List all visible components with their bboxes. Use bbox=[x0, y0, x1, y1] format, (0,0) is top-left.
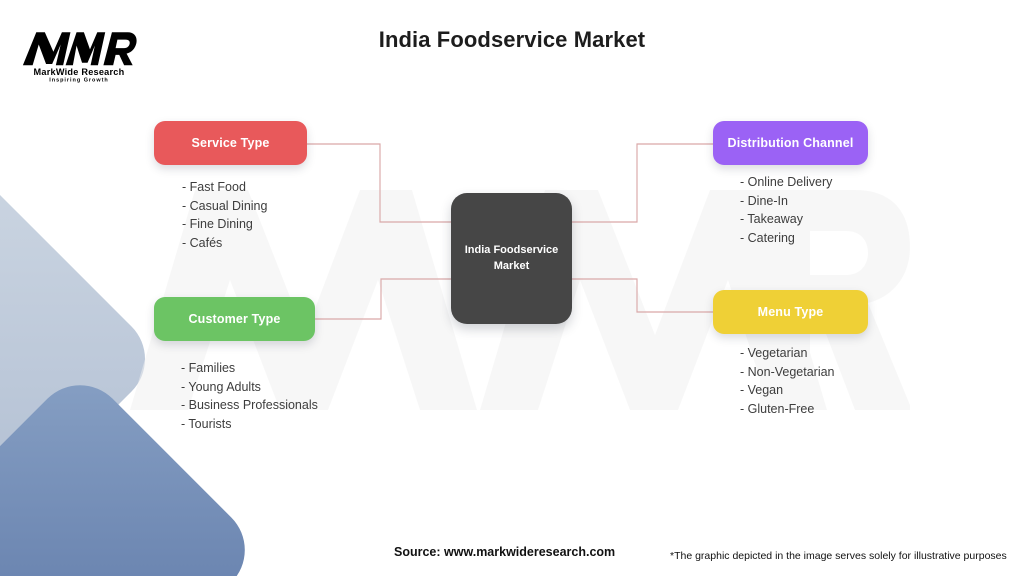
list-item: - Vegan bbox=[740, 381, 835, 400]
list-item: - Dine-In bbox=[740, 192, 832, 211]
connector-menu-type bbox=[572, 279, 713, 312]
list-item: - Catering bbox=[740, 229, 832, 248]
list-item: - Cafés bbox=[182, 234, 267, 253]
node-menu-type[interactable]: Menu Type bbox=[713, 290, 868, 334]
items-customer-type: - Families- Young Adults- Business Profe… bbox=[181, 359, 318, 433]
slide-canvas: MarkWide Research Inspiring Growth India… bbox=[0, 0, 1024, 576]
list-item: - Fine Dining bbox=[182, 215, 267, 234]
list-item: - Online Delivery bbox=[740, 173, 832, 192]
connector-service-type bbox=[307, 144, 451, 222]
list-item: - Fast Food bbox=[182, 178, 267, 197]
items-service-type: - Fast Food- Casual Dining- Fine Dining-… bbox=[182, 178, 267, 252]
list-item: - Families bbox=[181, 359, 318, 378]
items-distribution-channel: - Online Delivery- Dine-In- Takeaway- Ca… bbox=[740, 173, 832, 247]
node-customer-type[interactable]: Customer Type bbox=[154, 297, 315, 341]
decorative-shape-light bbox=[0, 154, 164, 564]
list-item: - Tourists bbox=[181, 415, 318, 434]
connector-customer-type bbox=[315, 279, 451, 319]
page-title: India Foodservice Market bbox=[0, 27, 1024, 53]
footer-disclaimer: *The graphic depicted in the image serve… bbox=[670, 550, 1007, 562]
node-distribution-channel[interactable]: Distribution Channel bbox=[713, 121, 868, 165]
node-center-label: India FoodserviceMarket bbox=[465, 243, 559, 275]
list-item: - Takeaway bbox=[740, 210, 832, 229]
footer-source: Source: www.markwideresearch.com bbox=[394, 545, 615, 559]
svg-text:Inspiring Growth: Inspiring Growth bbox=[49, 78, 108, 84]
list-item: - Non-Vegetarian bbox=[740, 363, 835, 382]
list-item: - Business Professionals bbox=[181, 396, 318, 415]
list-item: - Gluten-Free bbox=[740, 400, 835, 419]
connector-distribution-channel bbox=[572, 144, 713, 222]
svg-text:MarkWide Research: MarkWide Research bbox=[34, 67, 125, 77]
node-center[interactable]: India FoodserviceMarket bbox=[451, 193, 572, 324]
items-menu-type: - Vegetarian- Non-Vegetarian- Vegan- Glu… bbox=[740, 344, 835, 418]
list-item: - Young Adults bbox=[181, 378, 318, 397]
node-service-type[interactable]: Service Type bbox=[154, 121, 307, 165]
list-item: - Casual Dining bbox=[182, 197, 267, 216]
list-item: - Vegetarian bbox=[740, 344, 835, 363]
